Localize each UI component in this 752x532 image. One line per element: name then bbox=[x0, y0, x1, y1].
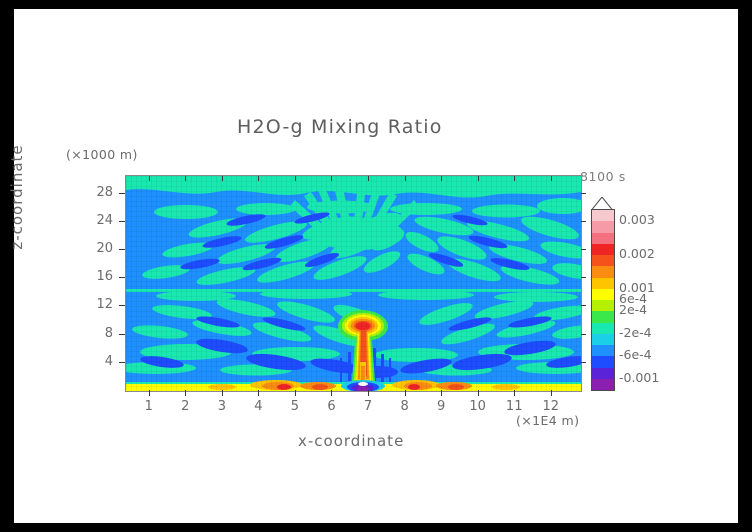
y-tick-right-12 bbox=[581, 305, 586, 306]
x-tick-8 bbox=[405, 390, 406, 396]
x-tick-top-2 bbox=[185, 176, 186, 181]
x-tick-top-12 bbox=[551, 176, 552, 181]
x-tick-2 bbox=[185, 390, 186, 396]
colorbar-band-9 bbox=[592, 311, 614, 322]
y-tick-right-8 bbox=[581, 334, 586, 335]
colorbar-label-5: -2e-4 bbox=[619, 325, 652, 340]
time-label: 8100 s bbox=[580, 169, 626, 184]
x-tick-1 bbox=[149, 390, 150, 396]
x-tick-3 bbox=[222, 390, 223, 396]
x-axis-title: x-coordinate bbox=[298, 432, 404, 450]
colorbar-top-arrow bbox=[591, 196, 613, 210]
y-tick-label-16: 16 bbox=[89, 269, 113, 284]
y-tick-right-24 bbox=[581, 221, 586, 222]
x-tick-label-1: 1 bbox=[137, 399, 161, 414]
colorbar-label-4: 2e-4 bbox=[619, 302, 647, 317]
y-tick-28 bbox=[119, 193, 125, 194]
x-tick-label-3: 3 bbox=[210, 399, 234, 414]
colorbar[interactable] bbox=[591, 209, 615, 391]
y-tick-24 bbox=[119, 221, 125, 222]
colorbar-band-11 bbox=[592, 334, 614, 345]
x-axis-unit-label: (×1E4 m) bbox=[516, 413, 579, 428]
x-tick-top-9 bbox=[441, 176, 442, 181]
x-tick-7 bbox=[368, 390, 369, 396]
y-tick-label-8: 8 bbox=[89, 326, 113, 341]
colorbar-band-6 bbox=[592, 278, 614, 289]
figure-canvas: H2O-g Mixing Ratio (×1000 m) 8100 s (×1E… bbox=[14, 9, 738, 523]
x-tick-label-8: 8 bbox=[393, 399, 417, 414]
y-tick-label-12: 12 bbox=[89, 297, 113, 312]
x-tick-label-6: 6 bbox=[319, 399, 343, 414]
colorbar-band-14 bbox=[592, 368, 614, 379]
x-tick-label-5: 5 bbox=[283, 399, 307, 414]
colorbar-band-12 bbox=[592, 345, 614, 356]
colorbar-band-1 bbox=[592, 221, 614, 232]
x-tick-label-9: 9 bbox=[429, 399, 453, 414]
colorbar-band-5 bbox=[592, 266, 614, 277]
y-tick-right-16 bbox=[581, 277, 586, 278]
x-tick-9 bbox=[441, 390, 442, 396]
y-tick-right-4 bbox=[581, 362, 586, 363]
x-tick-top-3 bbox=[222, 176, 223, 181]
colorbar-band-4 bbox=[592, 255, 614, 266]
colorbar-band-15 bbox=[592, 379, 614, 390]
colorbar-label-6: -6e-4 bbox=[619, 347, 652, 362]
x-tick-12 bbox=[551, 390, 552, 396]
y-tick-8 bbox=[119, 334, 125, 335]
x-tick-top-7 bbox=[368, 176, 369, 181]
page-title: H2O-g Mixing Ratio bbox=[237, 116, 443, 138]
y-tick-16 bbox=[119, 277, 125, 278]
colorbar-label-1: 0.002 bbox=[619, 246, 655, 261]
y-tick-right-28 bbox=[581, 193, 586, 194]
y-tick-4 bbox=[119, 362, 125, 363]
contour-field bbox=[126, 176, 581, 391]
x-tick-10 bbox=[478, 390, 479, 396]
y-axis-unit-label: (×1000 m) bbox=[66, 147, 138, 162]
colorbar-label-7: -0.001 bbox=[619, 370, 659, 385]
colorbar-label-0: 0.003 bbox=[619, 212, 655, 227]
x-tick-label-11: 11 bbox=[502, 399, 526, 414]
colorbar-band-3 bbox=[592, 244, 614, 255]
x-tick-label-7: 7 bbox=[356, 399, 380, 414]
y-tick-label-20: 20 bbox=[89, 241, 113, 256]
x-tick-top-4 bbox=[258, 176, 259, 181]
x-tick-top-5 bbox=[295, 176, 296, 181]
y-axis-title: z-coordinate bbox=[8, 117, 26, 277]
x-tick-5 bbox=[295, 390, 296, 396]
x-tick-6 bbox=[331, 390, 332, 396]
x-tick-top-6 bbox=[331, 176, 332, 181]
x-tick-label-12: 12 bbox=[539, 399, 563, 414]
x-tick-top-8 bbox=[405, 176, 406, 181]
colorbar-band-7 bbox=[592, 289, 614, 300]
contour-plot-area bbox=[125, 175, 582, 392]
colorbar-band-8 bbox=[592, 300, 614, 311]
colorbar-band-2 bbox=[592, 233, 614, 244]
y-tick-label-4: 4 bbox=[89, 354, 113, 369]
y-tick-right-20 bbox=[581, 249, 586, 250]
y-tick-20 bbox=[119, 249, 125, 250]
x-tick-11 bbox=[514, 390, 515, 396]
x-tick-label-2: 2 bbox=[173, 399, 197, 414]
y-tick-label-24: 24 bbox=[89, 213, 113, 228]
colorbar-band-10 bbox=[592, 323, 614, 334]
x-tick-label-10: 10 bbox=[466, 399, 490, 414]
y-tick-12 bbox=[119, 305, 125, 306]
colorbar-band-13 bbox=[592, 356, 614, 367]
colorbar-band-0 bbox=[592, 210, 614, 221]
x-tick-top-10 bbox=[478, 176, 479, 181]
x-tick-top-1 bbox=[149, 176, 150, 181]
y-tick-label-28: 28 bbox=[89, 185, 113, 200]
x-tick-label-4: 4 bbox=[246, 399, 270, 414]
x-tick-4 bbox=[258, 390, 259, 396]
x-tick-top-11 bbox=[514, 176, 515, 181]
